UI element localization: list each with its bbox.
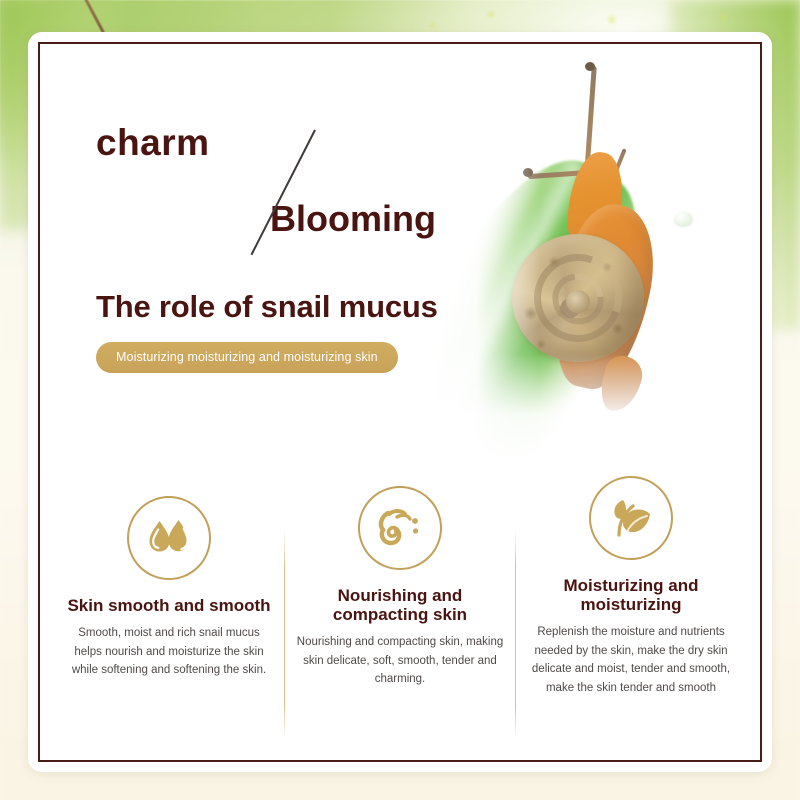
water-droplets-icon [127, 496, 211, 580]
feature-card-skin-smooth: Skin smooth and smooth Smooth, moist and… [54, 496, 284, 680]
leaves-icon [589, 476, 673, 560]
snail-upper-tentacle-tip [585, 62, 595, 71]
feature-body: Replenish the moisture and nutrients nee… [526, 623, 736, 698]
status-badge: Moisturizing moisturizing and moisturizi… [96, 342, 398, 373]
headline-block: charm Blooming The role of snail mucus M… [96, 124, 516, 373]
page-title: The role of snail mucus [96, 289, 516, 325]
feature-title: Nourishing and compacting skin [295, 586, 505, 624]
poster-frame: charm Blooming The role of snail mucus M… [38, 42, 762, 762]
feature-title: Skin smooth and smooth [64, 596, 274, 615]
feature-body: Nourishing and compacting skin, making s… [295, 633, 505, 689]
poster-card: charm Blooming The role of snail mucus M… [28, 32, 772, 772]
feature-title: Moisturizing and moisturizing [526, 576, 736, 614]
snail-spiral-icon [358, 486, 442, 570]
snail-shell-core [566, 290, 590, 313]
feature-body: Smooth, moist and rich snail mucus helps… [64, 624, 274, 680]
feature-card-nourishing: Nourishing and compacting skin Nourishin… [285, 496, 515, 699]
headline-blooming: Blooming [270, 201, 516, 237]
feature-card-moisturizing: Moisturizing and moisturizing Replenish … [516, 496, 746, 718]
feature-row: Skin smooth and smooth Smooth, moist and… [54, 496, 746, 738]
